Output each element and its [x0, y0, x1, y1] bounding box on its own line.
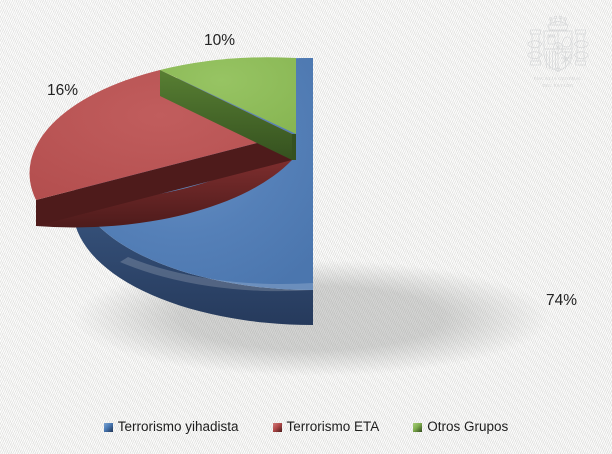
legend-label-otros: Otros Grupos [427, 420, 508, 434]
legend-item-terrorismo-eta[interactable]: Terrorismo ETA [273, 420, 380, 434]
legend-item-terrorismo-yihadista[interactable]: Terrorismo yihadista [104, 420, 239, 434]
legend-label-eta: Terrorismo ETA [287, 420, 380, 434]
pie-chart-figure: FISCALÍA GENERAL DEL ESTADO [0, 0, 612, 454]
data-label-terrorismo-eta: 16% [47, 82, 78, 100]
data-label-otros-grupos: 10% [204, 32, 235, 50]
legend-label-yihadista: Terrorismo yihadista [118, 420, 239, 434]
legend-swatch-icon-eta [273, 423, 282, 432]
legend-swatch-icon-otros [413, 423, 422, 432]
legend-item-otros-grupos[interactable]: Otros Grupos [413, 420, 508, 434]
chart-legend: Terrorismo yihadista Terrorismo ETA Otro… [0, 414, 612, 440]
legend-swatch-icon-yihadista [104, 423, 113, 432]
pie-graphic [0, 0, 612, 410]
data-label-terrorismo-yihadista: 74% [546, 292, 577, 310]
